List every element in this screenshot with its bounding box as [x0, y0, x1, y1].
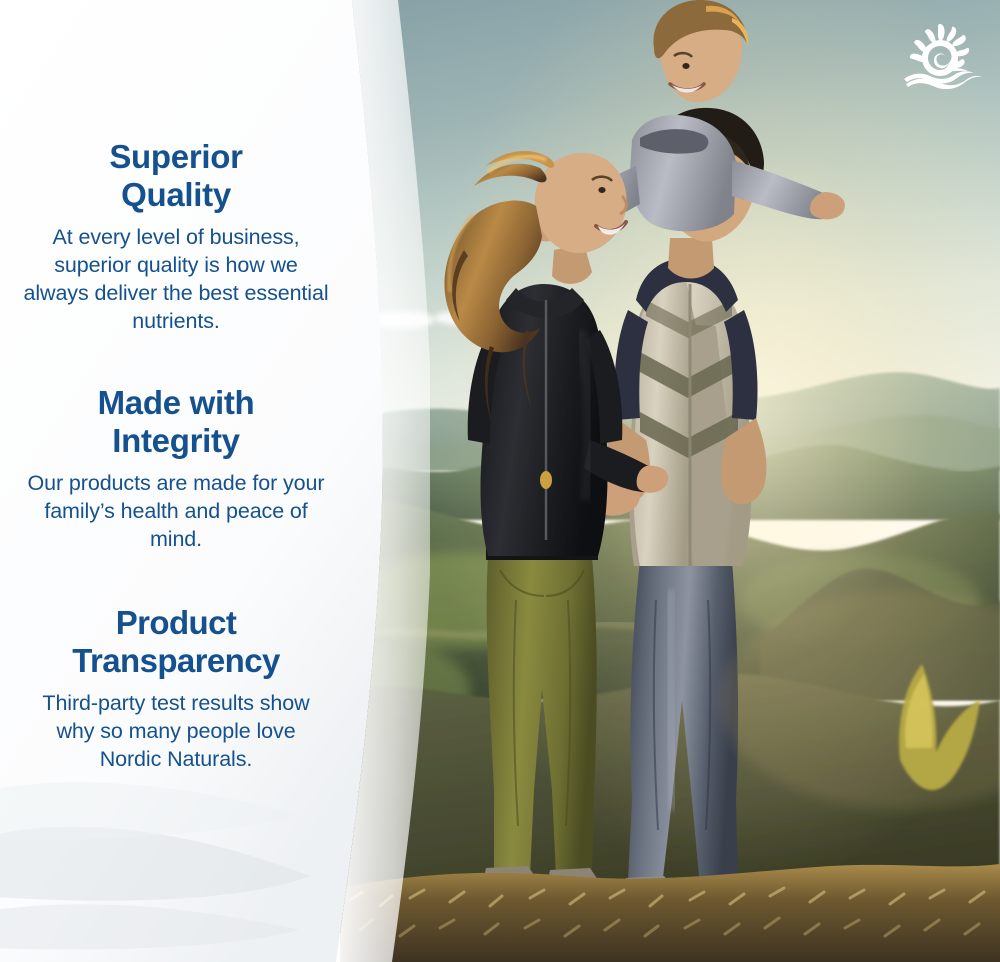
brand-logo — [902, 22, 982, 92]
photo-artwork — [340, 0, 1000, 962]
value-prop-body: Third-party test results show why so man… — [11, 690, 341, 774]
value-prop-product-transparency: Product Transparency Third-party test re… — [11, 604, 341, 774]
value-prop-heading: Made with Integrity — [11, 384, 341, 459]
value-prop-body: At every level of business, superior qua… — [11, 224, 341, 336]
value-prop-heading: Superior Quality — [11, 138, 341, 213]
heading-line-2: Quality — [121, 176, 231, 213]
value-prop-body: Our products are made for your family’s … — [11, 470, 341, 554]
sun-wave-logo-icon — [902, 22, 982, 92]
heading-line-1: Superior — [109, 138, 242, 175]
promo-banner: Superior Quality At every level of busin… — [0, 0, 1000, 962]
heading-line-1: Made with — [98, 384, 255, 421]
value-prop-superior-quality: Superior Quality At every level of busin… — [11, 138, 341, 336]
heading-line-1: Product — [116, 604, 236, 641]
family-lifestyle-photo — [340, 0, 1000, 962]
value-prop-made-with-integrity: Made with Integrity Our products are mad… — [11, 384, 341, 554]
value-prop-heading: Product Transparency — [11, 604, 341, 679]
value-props-column: Superior Quality At every level of busin… — [0, 0, 352, 962]
heading-line-2: Transparency — [72, 642, 279, 679]
heading-line-2: Integrity — [112, 422, 239, 459]
